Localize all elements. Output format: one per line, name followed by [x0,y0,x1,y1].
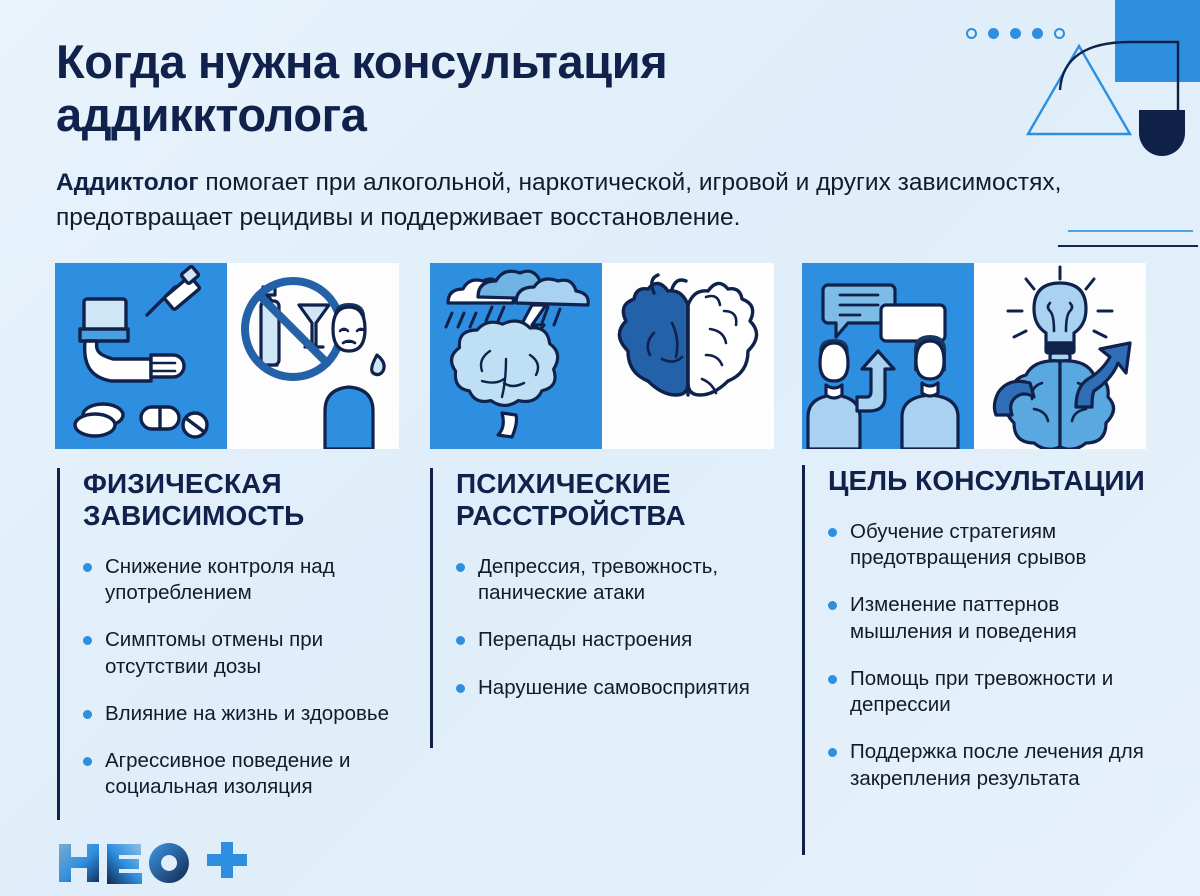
list-item: Снижение контроля над употреблением [83,554,402,606]
half-circle-decoration [1139,110,1185,156]
dot-solid-icon [1032,28,1043,39]
tile-group-physical [55,263,400,449]
column-divider [57,468,60,820]
people-chat-arrow-icon [802,263,974,449]
list-item: Симптомы отмены при отсутствии дозы [83,627,402,679]
tile-brain-lightbulb-arrows [974,263,1146,449]
list-item: Обучение стратегиям предотвращения срыво… [828,519,1152,571]
list-item: Поддержка после лечения для закрепления … [828,739,1152,791]
list-item: Депрессия, тревожность, панические атаки [456,554,780,606]
dot-solid-icon [1010,28,1021,39]
brand-logo [57,840,267,886]
neo-plus-logo-icon [57,840,267,886]
column-heading: ЦЕЛЬ КОНСУЛЬТАЦИИ [828,465,1152,497]
accent-rule-dark [1058,245,1198,247]
dot-hollow-icon [966,28,977,39]
column-heading: ФИЗИЧЕСКАЯ ЗАВИСИМОСТЬ [83,468,402,532]
arm-syringe-pills-icon [55,263,227,449]
column-divider [430,468,433,748]
page-title: Когда нужна консультация аддикктолога [56,36,886,141]
tile-group-mental [430,263,775,449]
column-divider [802,465,805,855]
tile-group-goal [802,263,1147,449]
column-consultation-goal: ЦЕЛЬ КОНСУЛЬТАЦИИ Обучение стратегиям пр… [802,465,1152,813]
dot-row-decoration [966,28,1065,39]
list-item: Изменение паттернов мышления и поведения [828,592,1152,644]
list-item: Перепады настроения [456,627,780,653]
list-item: Нарушение самовосприятия [456,675,780,701]
column-bullet-list: Снижение контроля над употреблением Симп… [83,554,402,801]
list-item: Помощь при тревожности и депрессии [828,666,1152,718]
column-bullet-list: Депрессия, тревожность, панические атаки… [456,554,780,701]
subtitle-lead: Аддиктолог [56,169,199,196]
column-heading: ПСИХИЧЕСКИЕ РАССТРОЙСТВА [456,468,780,532]
tile-brain-storm-cloud [430,263,602,449]
heart-brain-icon [602,263,774,449]
column-bullet-list: Обучение стратегиям предотвращения срыво… [828,519,1152,792]
infographic-page: Когда нужна консультация аддикктолога Ад… [0,0,1200,896]
column-mental-disorders: ПСИХИЧЕСКИЕ РАССТРОЙСТВА Депрессия, трев… [430,468,780,722]
illustration-strip [0,263,1200,449]
accent-rule-light [1068,230,1193,232]
tile-people-chat-arrow [802,263,974,449]
brain-lightbulb-arrows-icon [974,263,1146,449]
tile-arm-syringe-pills [55,263,227,449]
tile-no-alcohol-sad-person [227,263,399,449]
tile-heart-brain [602,263,774,449]
subtitle-rest: помогает при алкогольной, наркотической,… [56,169,1061,231]
column-physical-dependence: ФИЗИЧЕСКАЯ ЗАВИСИМОСТЬ Снижение контроля… [57,468,402,821]
no-alcohol-sad-person-icon [227,263,399,449]
brain-storm-cloud-icon [430,263,602,449]
list-item: Агрессивное поведение и социальная изоля… [83,748,402,800]
dot-solid-icon [988,28,999,39]
page-subtitle: Аддиктолог помогает при алкогольной, нар… [56,166,1116,236]
list-item: Влияние на жизнь и здоровье [83,701,402,727]
